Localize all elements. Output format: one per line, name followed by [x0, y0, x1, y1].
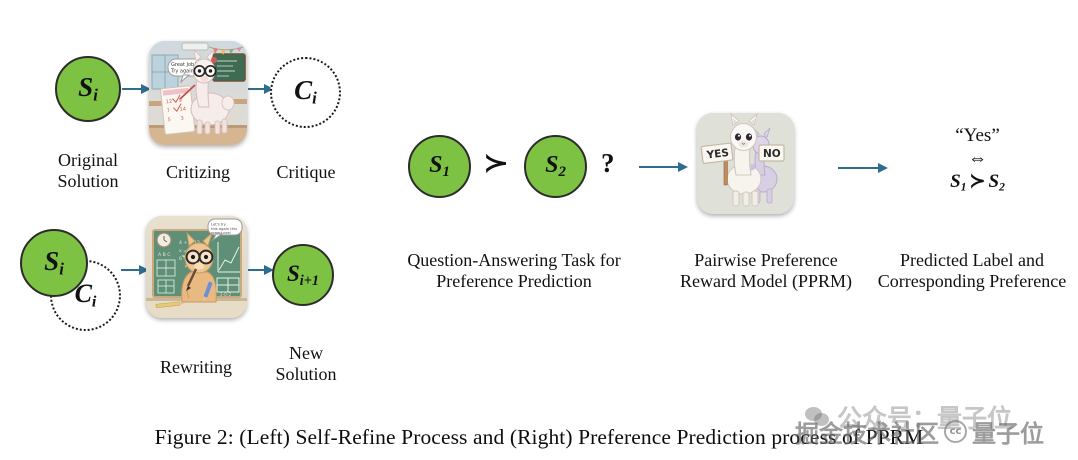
relation-operator: ≻: [967, 171, 989, 192]
tile-pprm-llama: YES NO: [697, 113, 794, 214]
arrow-shaft: [248, 88, 265, 90]
predicted-preference-relation: S1≻S2: [895, 170, 1060, 195]
svg-text:Try again: Try again: [170, 69, 194, 75]
node-current-solution: Si: [20, 229, 88, 297]
node-new-solution-label: Si+1: [287, 262, 319, 288]
tile-rewriting-llama: 4 + 312 x = 76 - 2 A B C -3-0-2 Let's tr…: [146, 216, 247, 318]
equivalence-symbol: ⇔: [895, 147, 1060, 170]
svg-text:7: 7: [166, 108, 170, 114]
node-candidate-s1-label: S1: [429, 153, 450, 180]
relation-left: S: [950, 171, 961, 192]
node-original-solution: Si: [55, 56, 121, 122]
svg-text:Let's try: Let's try: [211, 223, 227, 227]
relation-left-subscript: 1: [961, 181, 967, 194]
arrow-head: [878, 163, 888, 173]
tile-critizing-llama: 129 714 53 Great Job! Try again: [149, 41, 247, 145]
arrow-shaft: [122, 88, 142, 90]
question-mark: ?: [601, 150, 615, 177]
arrow-solution-to-critizing: [122, 84, 151, 94]
arrow-query-to-pprm: [639, 162, 688, 172]
preference-operator: ≻: [483, 152, 508, 176]
caption-qa-task: Question-Answering Task for Preference P…: [388, 250, 640, 291]
caption-rewriting: Rewriting: [136, 357, 256, 378]
svg-text:-3-0-2: -3-0-2: [218, 292, 231, 298]
arrow-rewriting-to-new-solution: [248, 265, 274, 275]
wechat-bubble-back: [805, 407, 822, 421]
svg-text:A B C: A B C: [158, 252, 170, 258]
critizing-llama-illustration: 129 714 53 Great Job! Try again: [149, 41, 247, 145]
arrow-solution-to-rewriting: [121, 265, 149, 275]
svg-text:3: 3: [180, 116, 184, 122]
arrow-head: [678, 162, 688, 172]
caption-new-solution: New Solution: [250, 343, 362, 384]
caption-critizing: Critizing: [140, 162, 256, 183]
pprm-llama-illustration: YES NO: [697, 113, 794, 214]
arrow-shaft: [838, 167, 879, 169]
predicted-label: “Yes”: [895, 124, 1060, 147]
node-critique-label: Ci: [294, 77, 317, 107]
arrow-pprm-to-output: [838, 163, 888, 173]
caption-predicted-label: Predicted Label and Corresponding Prefer…: [866, 250, 1078, 291]
figure-canvas: Si Original Solution: [0, 0, 1078, 460]
relation-right-subscript: 2: [999, 181, 1005, 194]
node-new-solution: Si+1: [272, 244, 334, 306]
svg-text:5: 5: [167, 117, 171, 123]
svg-text:12: 12: [165, 99, 172, 106]
node-candidate-s2: S2: [524, 135, 587, 198]
node-candidate-s1: S1: [408, 135, 471, 198]
svg-text:NO: NO: [763, 148, 781, 160]
output-conclusion: “Yes” ⇔ S1≻S2: [895, 124, 1060, 195]
caption-critique: Critique: [252, 162, 360, 183]
svg-text:14: 14: [179, 106, 186, 113]
figure-caption: Figure 2: (Left) Self-Refine Process and…: [0, 425, 1078, 450]
relation-right: S: [988, 171, 999, 192]
arrow-shaft: [121, 269, 140, 271]
arrow-shaft: [248, 269, 265, 271]
svg-text:Great Job!: Great Job!: [171, 62, 196, 68]
node-original-solution-label: Si: [78, 74, 98, 104]
caption-original-solution: Original Solution: [26, 150, 150, 191]
rewriting-llama-illustration: 4 + 312 x = 76 - 2 A B C -3-0-2 Let's tr…: [146, 216, 247, 318]
svg-text:correct now!: correct now!: [211, 231, 231, 235]
node-critique: Ci: [270, 57, 341, 128]
caption-pprm: Pairwise Preference Reward Model (PPRM): [660, 250, 872, 291]
arrow-shaft: [639, 166, 679, 168]
node-candidate-s2-label: S2: [545, 153, 566, 180]
node-current-solution-label: Si: [44, 248, 64, 278]
